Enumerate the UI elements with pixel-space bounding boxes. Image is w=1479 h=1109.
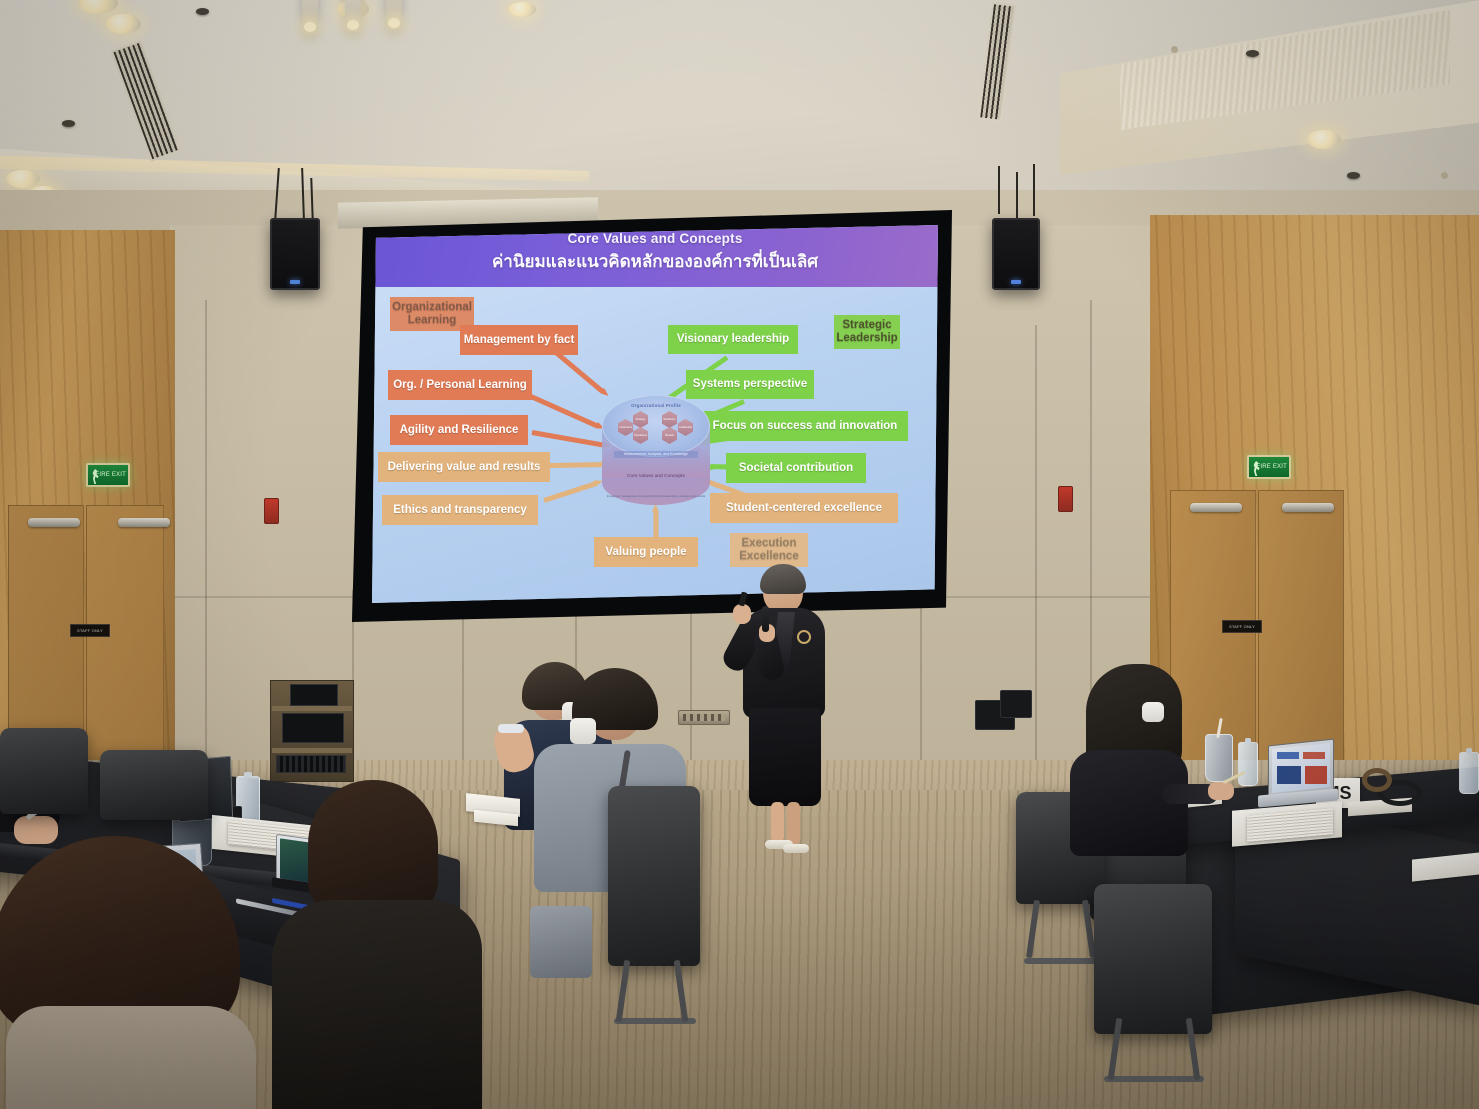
smoke-detector-icon bbox=[1246, 50, 1259, 57]
speaker-cable bbox=[1033, 164, 1035, 216]
chair-base bbox=[1104, 1076, 1204, 1082]
smoke-detector-icon bbox=[62, 120, 75, 127]
attendee-foreground-right bbox=[262, 780, 492, 1109]
slide-title-thai: ค่านิยมและแนวคิดหลักขององค์การที่เป็นเลิ… bbox=[372, 248, 938, 275]
wristwatch-icon bbox=[498, 724, 524, 733]
staff-only-sign-left-text: STAFF ONLY bbox=[77, 628, 103, 633]
slide-node-org-personal-learning: Org. / Personal Learning bbox=[388, 370, 532, 400]
ceiling-speaker-left bbox=[270, 218, 320, 290]
attendee-hand bbox=[1208, 782, 1234, 800]
attendee-jacket bbox=[272, 900, 482, 1109]
presenter-skirt bbox=[749, 708, 821, 806]
chair-middle[interactable] bbox=[608, 786, 700, 966]
staff-only-sign-right-text: STAFF ONLY bbox=[1229, 624, 1255, 629]
diagram-caption: Integrated management framework linking … bbox=[584, 495, 728, 499]
chair-left-rear[interactable] bbox=[0, 728, 88, 814]
av-rack-shelf bbox=[272, 706, 352, 711]
diagram-bottom-label: Core Values and Concepts bbox=[600, 473, 712, 478]
slide-node-societal-contribution: Societal contribution bbox=[726, 453, 866, 483]
chair-base bbox=[1024, 958, 1100, 964]
face-mask-icon bbox=[570, 718, 596, 744]
water-bottle bbox=[1459, 752, 1479, 794]
arrow-org-personal-learning bbox=[520, 388, 606, 433]
slide-node-delivering-value-and-results: Delivering value and results bbox=[378, 452, 550, 482]
door-handle-left-a[interactable] bbox=[28, 518, 80, 527]
pendant-light-icon bbox=[345, 0, 361, 32]
downlight-icon bbox=[105, 14, 141, 34]
slide-node-agility-and-resilience: Agility and Resilience bbox=[390, 415, 528, 445]
arrow-ethics-transparency bbox=[543, 477, 605, 505]
fire-exit-sign-left-text: FIRE EXIT bbox=[96, 472, 126, 479]
downlight-icon bbox=[6, 170, 40, 188]
smoke-detector-icon bbox=[196, 8, 209, 15]
basket-holder bbox=[1362, 768, 1392, 792]
face-mask-icon bbox=[1142, 702, 1164, 722]
sprinkler-icon bbox=[1441, 172, 1448, 179]
smoke-detector-icon bbox=[1347, 172, 1360, 179]
fire-exit-sign-right: FIRE EXIT bbox=[1247, 455, 1291, 479]
diagram-top-label: Organizational Profile bbox=[600, 403, 712, 408]
attendee-hair bbox=[308, 780, 438, 920]
chair-left-rear-2[interactable] bbox=[100, 750, 208, 820]
category-label-execution-excellence: Execution Excellence bbox=[730, 533, 808, 567]
fire-alarm-pull-icon[interactable] bbox=[1058, 486, 1073, 512]
attendee-right bbox=[1046, 666, 1196, 866]
attendee-hand bbox=[14, 816, 58, 844]
presenter-lapel-pin bbox=[797, 630, 811, 644]
shoulder-bag bbox=[530, 906, 592, 978]
wall-monitor bbox=[1000, 690, 1032, 718]
fire-exit-sign-right-text: FIRE EXIT bbox=[1257, 464, 1287, 471]
presenter-hand-raised bbox=[733, 604, 751, 624]
speaker-cable bbox=[998, 166, 1000, 214]
presenter-hair bbox=[760, 564, 806, 594]
laptop-ui-bar bbox=[1277, 752, 1299, 759]
presenter-shoe bbox=[783, 844, 809, 853]
staff-only-sign-left: STAFF ONLY bbox=[70, 624, 110, 637]
presenter bbox=[735, 568, 835, 858]
av-rack-shelf bbox=[272, 748, 352, 753]
slide-node-management-by-fact: Management by fact bbox=[460, 325, 578, 355]
av-device bbox=[282, 713, 344, 743]
slide-node-focus-on-success-and-innovation: Focus on success and innovation bbox=[702, 411, 908, 441]
chair-right-3[interactable] bbox=[1094, 884, 1212, 1034]
slide-node-visionary-leadership: Visionary leadership bbox=[668, 325, 798, 354]
av-device bbox=[290, 684, 338, 706]
door-handle-left-b[interactable] bbox=[118, 518, 170, 527]
conference-room-photo: STAFF ONLY FIRE EXIT STAFF ONLY FIRE EXI… bbox=[0, 0, 1479, 1109]
slide-node-valuing-people: Valuing people bbox=[594, 537, 698, 567]
water-bottle bbox=[1238, 742, 1258, 786]
av-mixer bbox=[276, 755, 346, 773]
pendant-light-icon bbox=[386, 0, 402, 30]
door-handle-right-b[interactable] bbox=[1282, 503, 1334, 512]
ceiling-speaker-right bbox=[992, 218, 1040, 290]
tumbler-cup bbox=[1205, 734, 1233, 782]
microphone-icon bbox=[762, 606, 769, 632]
fire-alarm-pull-icon[interactable] bbox=[264, 498, 279, 524]
category-label-strategic-leadership: Strategic Leadership bbox=[834, 315, 900, 349]
downlight-icon bbox=[1307, 130, 1341, 149]
diagram-band-label: Measurement, Analysis, and Knowledge Man… bbox=[614, 451, 698, 458]
staff-only-sign-right: STAFF ONLY bbox=[1222, 620, 1262, 633]
downlight-icon bbox=[508, 2, 536, 17]
speaker-cable bbox=[1016, 172, 1018, 218]
presentation-slide: Core Values and Concepts ค่านิยมและแนวคิ… bbox=[372, 225, 938, 603]
presenter-leg bbox=[787, 802, 800, 844]
fire-exit-sign-left: FIRE EXIT bbox=[86, 463, 130, 487]
attendee-jacket bbox=[6, 1006, 256, 1109]
door-handle-right-a[interactable] bbox=[1190, 503, 1242, 512]
laptop-ui-panel bbox=[1305, 766, 1327, 784]
wall-seam bbox=[1035, 325, 1037, 795]
pendant-light-icon bbox=[302, 0, 318, 34]
slide-node-student-centered-excellence: Student-centered excellence bbox=[710, 493, 898, 523]
slide-node-ethics-and-transparency: Ethics and transparency bbox=[382, 495, 538, 525]
laptop-ui-panel bbox=[1277, 766, 1301, 784]
projection-screen: Core Values and Concepts ค่านิยมและแนวคิ… bbox=[372, 225, 938, 603]
center-framework-diagram: Organizational Profile Customers Strateg… bbox=[600, 393, 712, 508]
wall-seam bbox=[205, 300, 207, 780]
laptop-ui-bar bbox=[1303, 752, 1325, 759]
presenter-leg bbox=[771, 802, 784, 842]
sprinkler-icon bbox=[1171, 46, 1178, 53]
